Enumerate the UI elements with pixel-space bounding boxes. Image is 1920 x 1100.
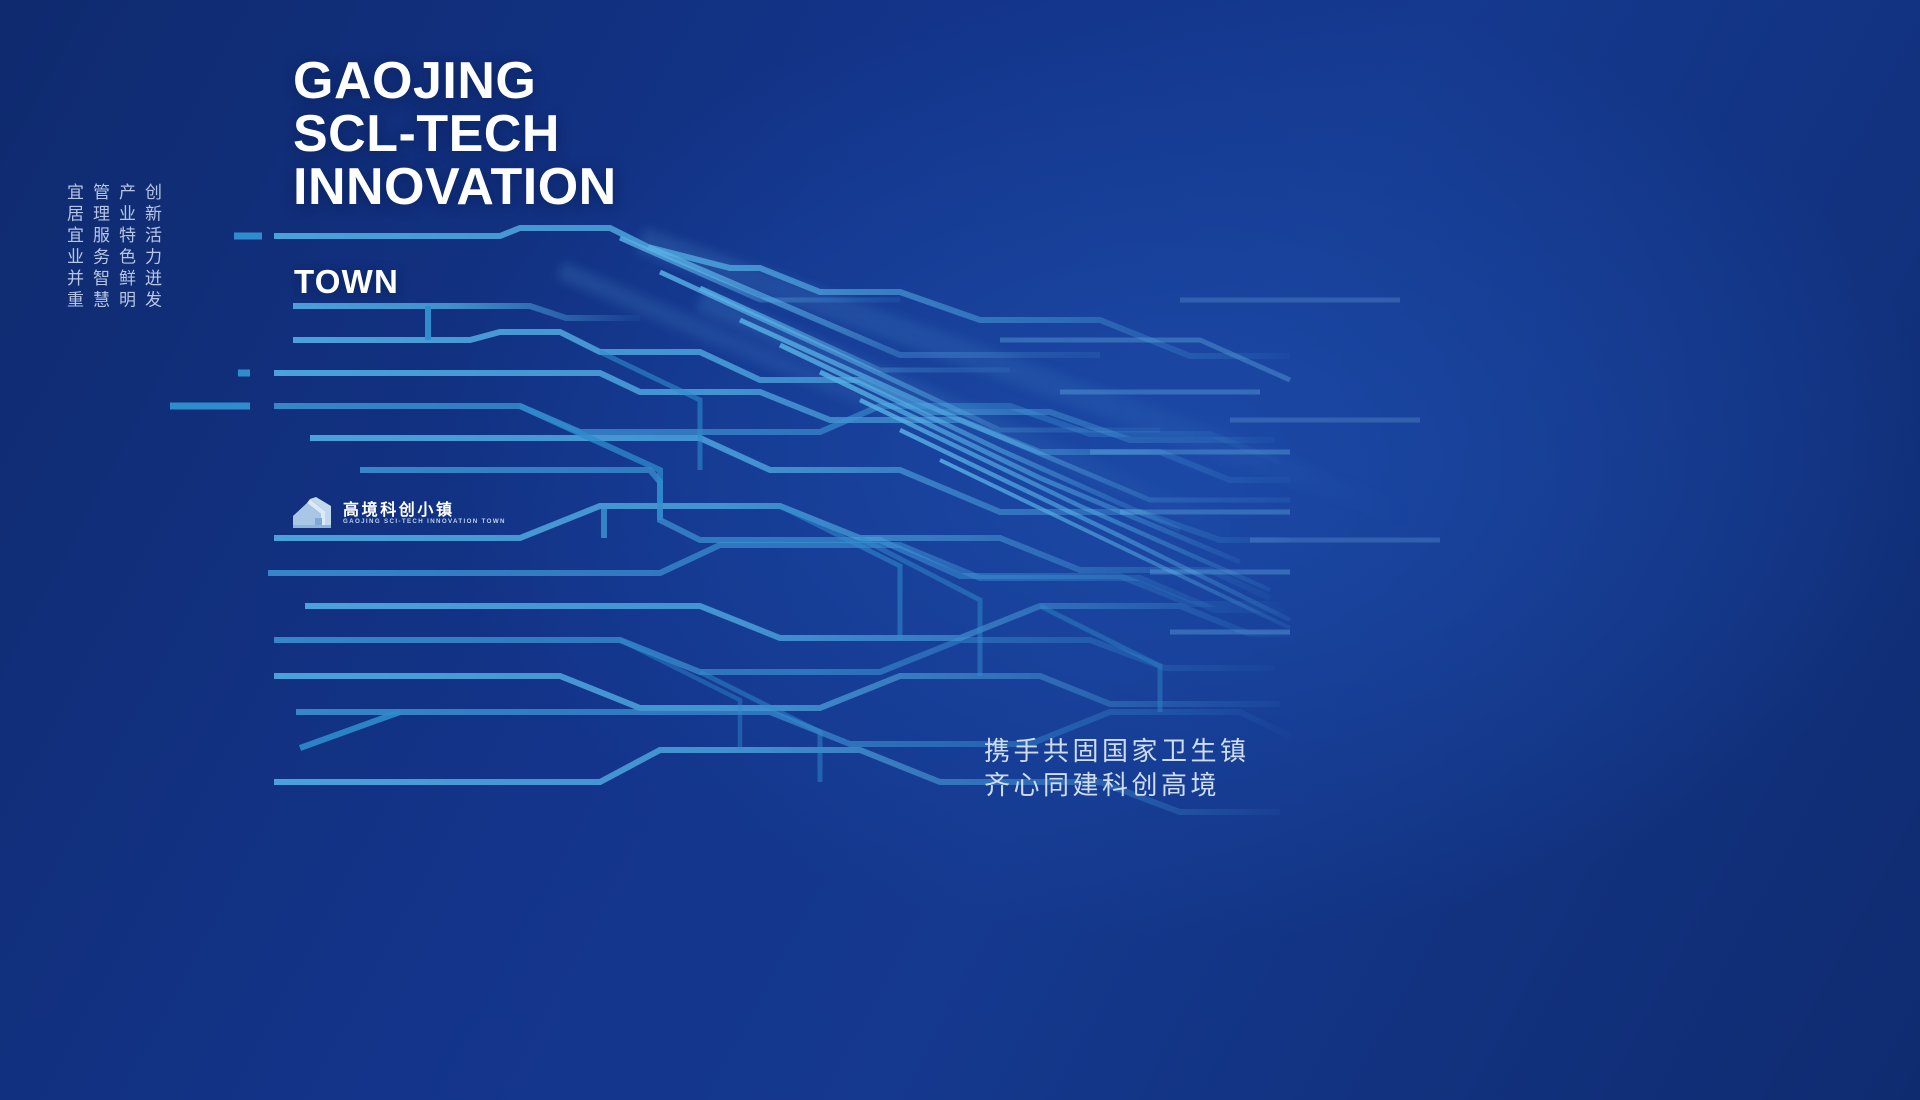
brand-logo-text: 高境科创小镇 GAOJING SCI-TECH INNOVATION TOWN bbox=[343, 502, 506, 525]
vertical-slogan-4: 宜居宜业并重 bbox=[64, 183, 81, 312]
brand-name-cn: 高境科创小镇 bbox=[343, 502, 506, 518]
circuit-pattern-artwork bbox=[0, 0, 1920, 1100]
brand-name-en: GAOJING SCI-TECH INNOVATION TOWN bbox=[343, 519, 506, 525]
campaign-slogan-line-1: 携手共固国家卫生镇 bbox=[984, 735, 1250, 769]
vertical-slogan-block: 创新活力迸发 产业特色鲜明 管理服务智慧 宜居宜业并重 bbox=[64, 183, 159, 312]
headline-line-2: SCL-TECH bbox=[293, 108, 617, 161]
brand-logo: 高境科创小镇 GAOJING SCI-TECH INNOVATION TOWN bbox=[291, 497, 506, 531]
vertical-slogan-3: 管理服务智慧 bbox=[90, 183, 107, 312]
campaign-slogan-line-2: 齐心同建科创高境 bbox=[984, 769, 1250, 803]
page-title: GAOJING SCL-TECH INNOVATION bbox=[293, 55, 617, 214]
headline-line-1: GAOJING bbox=[293, 55, 617, 108]
campaign-slogan: 携手共固国家卫生镇 齐心同建科创高境 bbox=[984, 735, 1250, 803]
headline-line-3: INNOVATION bbox=[293, 161, 617, 214]
vertical-slogan-1: 创新活力迸发 bbox=[142, 183, 159, 312]
vertical-slogan-2: 产业特色鲜明 bbox=[116, 183, 133, 312]
headline-line-4: TOWN bbox=[294, 263, 399, 301]
house-building-icon bbox=[291, 497, 335, 531]
poster-canvas: 创新活力迸发 产业特色鲜明 管理服务智慧 宜居宜业并重 GAOJING SCL-… bbox=[0, 0, 1920, 1100]
